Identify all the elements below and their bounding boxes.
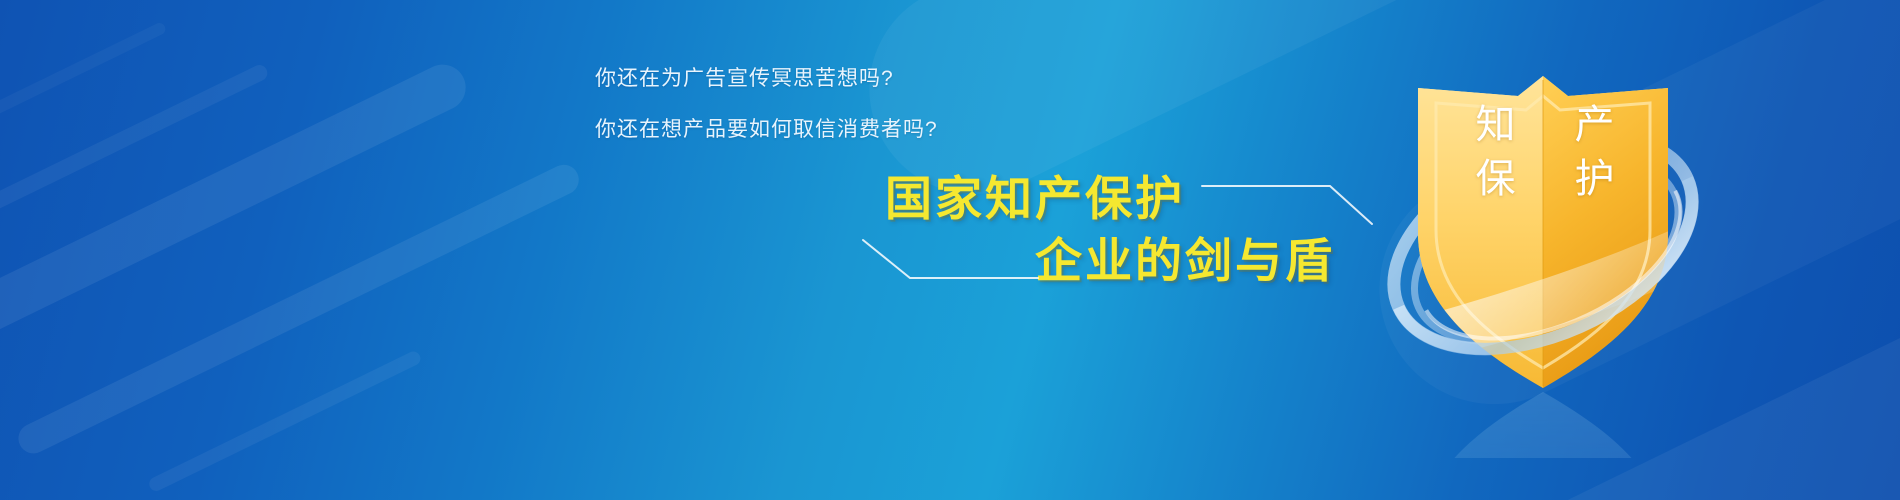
subtitle-line-2: 你还在想产品要如何取信消费者吗? [595, 119, 938, 140]
background-stripe-4 [147, 349, 423, 493]
subtitle-group: 你还在为广告宣传冥思苦想吗? 你还在想产品要如何取信消费者吗? [595, 68, 938, 170]
background-stripe-5 [0, 21, 167, 141]
bracket-rule-top [1200, 180, 1380, 226]
background-stripe-3 [0, 62, 270, 265]
background-stripe-1 [0, 57, 473, 344]
bracket-rule-bottom [855, 238, 1040, 284]
subtitle-line-1: 你还在为广告宣传冥思苦想吗? [595, 68, 938, 89]
headline-line-2: 企业的剑与盾 [1035, 237, 1335, 284]
headline-line-1: 国家知产保护 [885, 175, 1185, 222]
shield-emblem [1378, 58, 1708, 458]
promotional-banner: 你还在为广告宣传冥思苦想吗? 你还在想产品要如何取信消费者吗? 国家知产保护 企… [0, 0, 1900, 500]
background-stripe-2 [13, 160, 583, 459]
shield-reflection [1418, 392, 1668, 458]
